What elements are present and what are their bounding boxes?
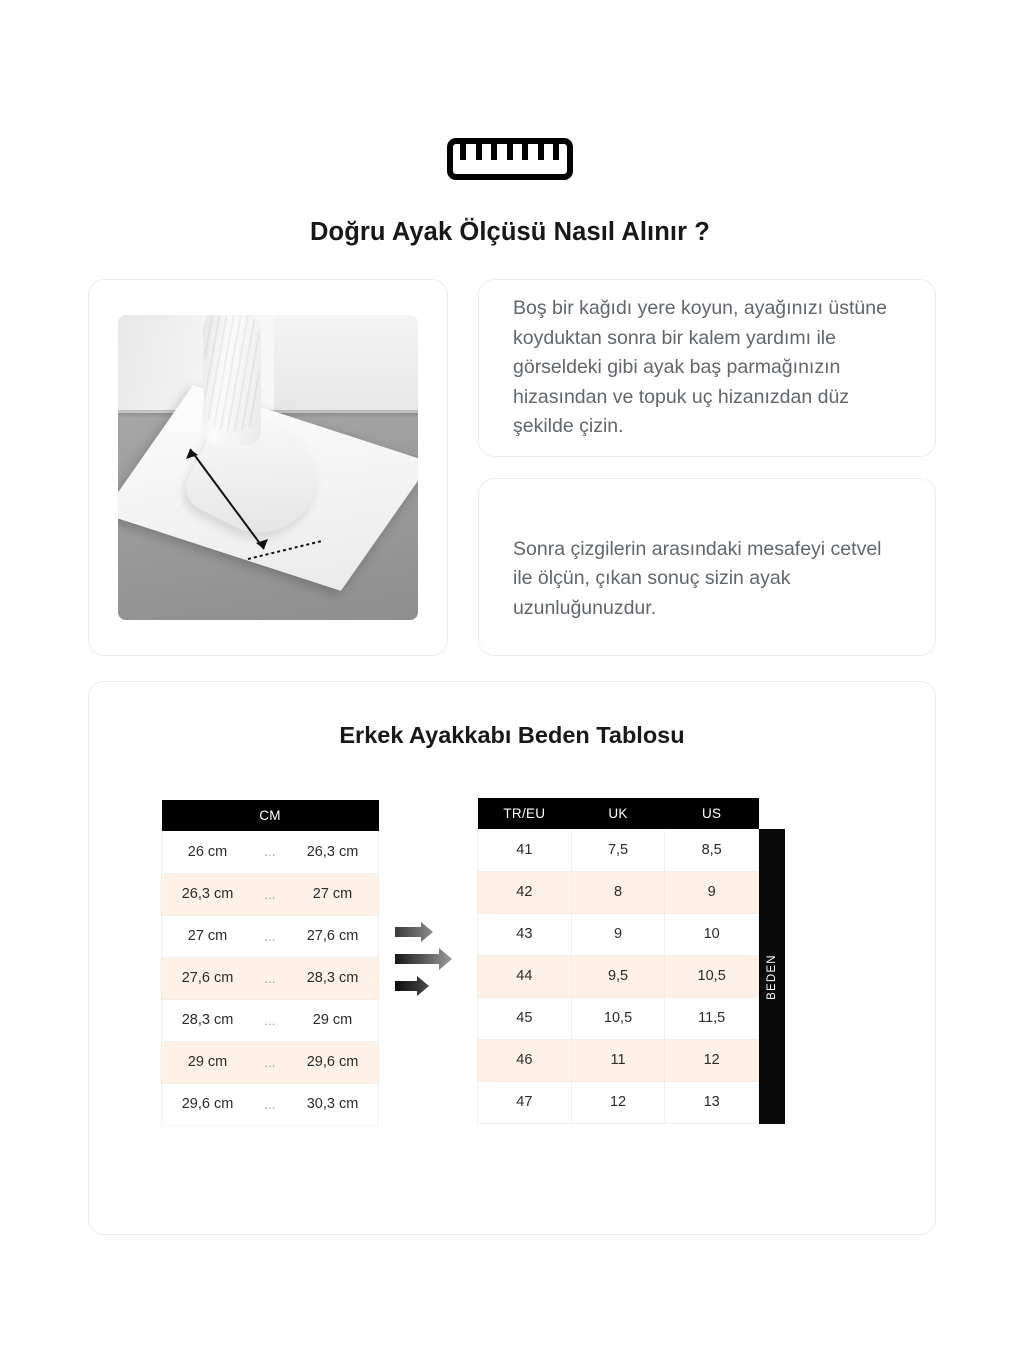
cm-table: CM 26 cm...26,3 cm26,3 cm...27 cm27 cm..… [161, 800, 379, 1126]
table-row: 449,510,5 [478, 955, 759, 997]
ruler-icon-container [0, 138, 1020, 180]
size-uk: 9,5 [571, 955, 665, 997]
size-tr-eu: 44 [478, 955, 572, 997]
measure-dashed-line-icon [246, 537, 324, 563]
size-us: 10 [665, 913, 759, 955]
cm-separator: ... [253, 1041, 287, 1083]
beden-label: BEDEN [766, 954, 778, 1000]
cm-from: 27 cm [162, 915, 254, 957]
instruction-text-column: Boş bir kağıdı yere koyun, ayağınızı üst… [478, 279, 936, 656]
size-table-header: UK [571, 798, 665, 829]
size-tr-eu: 41 [478, 829, 572, 871]
table-row: 29 cm...29,6 cm [162, 1041, 379, 1083]
table-row: 4289 [478, 871, 759, 913]
size-uk: 7,5 [571, 829, 665, 871]
right-arrows-icon [393, 921, 475, 999]
ruler-tick [460, 144, 466, 160]
table-row: 461112 [478, 1039, 759, 1081]
cm-from: 26,3 cm [162, 873, 254, 915]
cm-table-header-row: CM [162, 800, 379, 831]
size-us: 11,5 [665, 997, 759, 1039]
table-row: 28,3 cm...29 cm [162, 999, 379, 1041]
size-tr-eu: 45 [478, 997, 572, 1039]
cm-separator: ... [253, 873, 287, 915]
cm-to: 29 cm [287, 999, 379, 1041]
size-uk: 8 [571, 871, 665, 913]
cm-from: 28,3 cm [162, 999, 254, 1041]
table-row: 26,3 cm...27 cm [162, 873, 379, 915]
size-tr-eu: 42 [478, 871, 572, 913]
size-tr-eu: 43 [478, 913, 572, 955]
size-tr-eu: 46 [478, 1039, 572, 1081]
beden-label-bar: BEDEN [759, 829, 785, 1124]
cm-to: 27 cm [287, 873, 379, 915]
cm-to: 29,6 cm [287, 1041, 379, 1083]
size-us: 12 [665, 1039, 759, 1081]
table-row: 27 cm...27,6 cm [162, 915, 379, 957]
cm-from: 29,6 cm [162, 1083, 254, 1125]
table-row: 29,6 cm...30,3 cm [162, 1083, 379, 1125]
size-chart-card: Erkek Ayakkabı Beden Tablosu CM 26 cm...… [88, 681, 936, 1235]
cm-from: 29 cm [162, 1041, 254, 1083]
ruler-tick [553, 144, 559, 160]
illustration-card [88, 279, 448, 656]
instruction-text-2: Sonra çizgilerin arasındaki mesafeyi cet… [513, 535, 901, 624]
size-us: 13 [665, 1081, 759, 1123]
page-title: Doğru Ayak Ölçüsü Nasıl Alınır ? [0, 218, 1020, 247]
cm-to: 30,3 cm [287, 1083, 379, 1125]
table-row: 26 cm...26,3 cm [162, 831, 379, 873]
ruler-icon [447, 138, 573, 180]
size-table-header-row: TR/EUUKUS [478, 798, 759, 829]
size-table-header: US [665, 798, 759, 829]
table-row: 417,58,5 [478, 829, 759, 871]
cm-to: 26,3 cm [287, 831, 379, 873]
table-row: 43910 [478, 913, 759, 955]
ruler-tick [522, 144, 528, 160]
cm-separator: ... [253, 915, 287, 957]
instruction-text-1: Boş bir kağıdı yere koyun, ayağınızı üst… [513, 294, 901, 442]
ruler-tick [538, 144, 544, 160]
cm-from: 27,6 cm [162, 957, 254, 999]
size-chart-title: Erkek Ayakkabı Beden Tablosu [89, 722, 935, 749]
size-us: 10,5 [665, 955, 759, 997]
ruler-tick [476, 144, 482, 160]
cm-table-header: CM [162, 800, 379, 831]
table-row: 471213 [478, 1081, 759, 1123]
size-uk: 12 [571, 1081, 665, 1123]
size-uk: 9 [571, 913, 665, 955]
ruler-tick [491, 144, 497, 160]
instruction-card-2: Sonra çizgilerin arasındaki mesafeyi cet… [478, 478, 936, 656]
size-uk: 10,5 [571, 997, 665, 1039]
cm-to: 27,6 cm [287, 915, 379, 957]
table-row: 4510,511,5 [478, 997, 759, 1039]
cm-from: 26 cm [162, 831, 254, 873]
instructions-row: Boş bir kağıdı yere koyun, ayağınızı üst… [88, 279, 936, 656]
size-us: 9 [665, 871, 759, 913]
foot-measurement-photo [118, 315, 418, 620]
size-tr-eu: 47 [478, 1081, 572, 1123]
instruction-card-1: Boş bir kağıdı yere koyun, ayağınızı üst… [478, 279, 936, 457]
size-chart-tables: CM 26 cm...26,3 cm26,3 cm...27 cm27 cm..… [147, 792, 877, 1122]
size-table-header: TR/EU [478, 798, 572, 829]
cm-separator: ... [253, 1083, 287, 1125]
ruler-tick [507, 144, 513, 160]
size-us: 8,5 [665, 829, 759, 871]
cm-separator: ... [253, 831, 287, 873]
cm-to: 28,3 cm [287, 957, 379, 999]
cm-separator: ... [253, 999, 287, 1041]
size-table: TR/EUUKUS 417,58,5428943910449,510,54510… [477, 798, 759, 1124]
size-uk: 11 [571, 1039, 665, 1081]
cm-separator: ... [253, 957, 287, 999]
size-guide-page: Doğru Ayak Ölçüsü Nasıl Alınır ? [0, 0, 1020, 1360]
table-row: 27,6 cm...28,3 cm [162, 957, 379, 999]
photo-sock [203, 315, 261, 445]
